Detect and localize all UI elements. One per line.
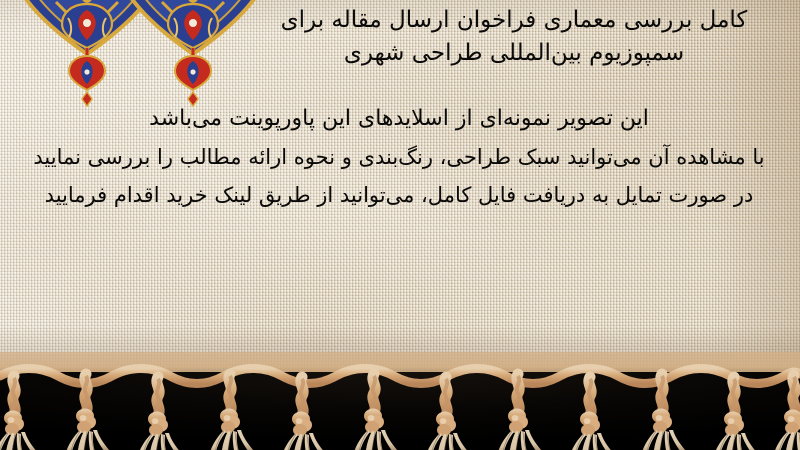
persian-medallion-ornament-right: [118, 0, 268, 112]
carpet-fringe-tassels: [0, 352, 800, 450]
presentation-slide: کامل بررسی معماری فراخوان ارسال مقاله بر…: [0, 0, 800, 450]
